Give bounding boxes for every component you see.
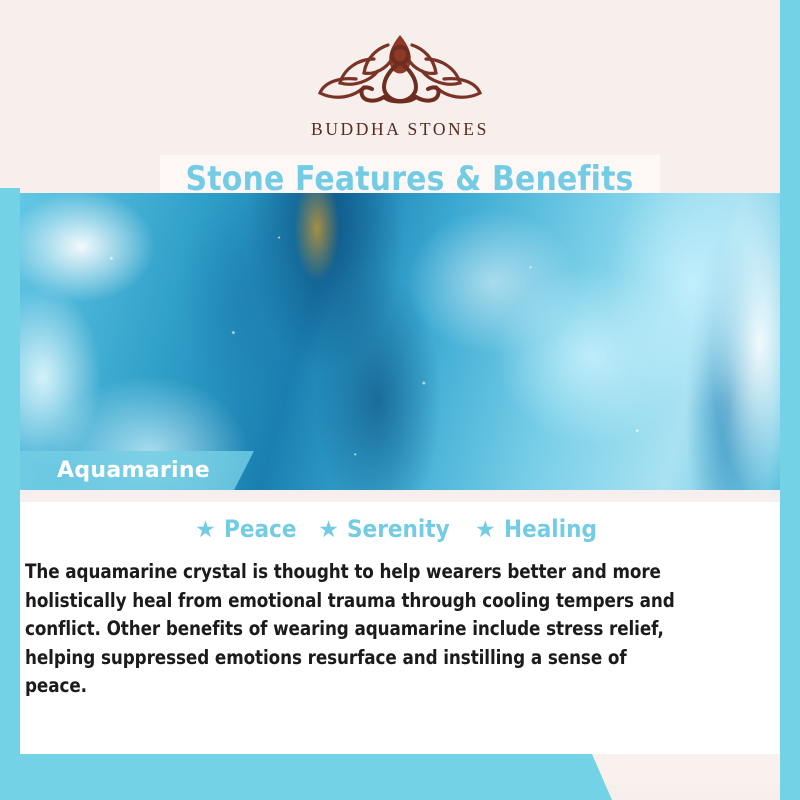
keyword-item-serenity: ★ Serenity <box>318 515 461 543</box>
star-icon: ★ <box>318 518 339 541</box>
hero-crystal-image <box>20 193 782 490</box>
stone-name-label: Aquamarine <box>57 458 210 483</box>
keyword-list: ★ Peace ★ Serenity ★ Healing <box>20 512 782 546</box>
star-icon: ★ <box>195 518 216 541</box>
left-accent-stripe <box>0 188 20 778</box>
star-icon: ★ <box>475 518 496 541</box>
keyword-item-peace: ★ Peace <box>195 515 304 543</box>
header-section: BUDDHA STONES Stone Features & Benefits <box>20 15 780 193</box>
keyword-item-healing: ★ Healing <box>475 515 607 543</box>
stone-name-tag: Aquamarine <box>20 451 254 490</box>
brand-name: BUDDHA STONES <box>311 119 489 140</box>
brand-logo: BUDDHA STONES <box>20 23 780 140</box>
keyword-label: Healing <box>504 515 597 543</box>
section-divider <box>20 490 782 502</box>
crystal-sparkle-overlay <box>20 193 782 490</box>
poster-canvas: BUDDHA STONES Stone Features & Benefits … <box>0 0 800 800</box>
right-accent-stripe <box>780 0 800 800</box>
keyword-label: Peace <box>224 515 297 543</box>
keyword-label: Serenity <box>347 515 450 543</box>
lotus-meditation-icon <box>312 23 488 115</box>
bottom-accent-bar <box>0 754 612 800</box>
description-text: The aquamarine crystal is thought to hel… <box>25 558 683 701</box>
